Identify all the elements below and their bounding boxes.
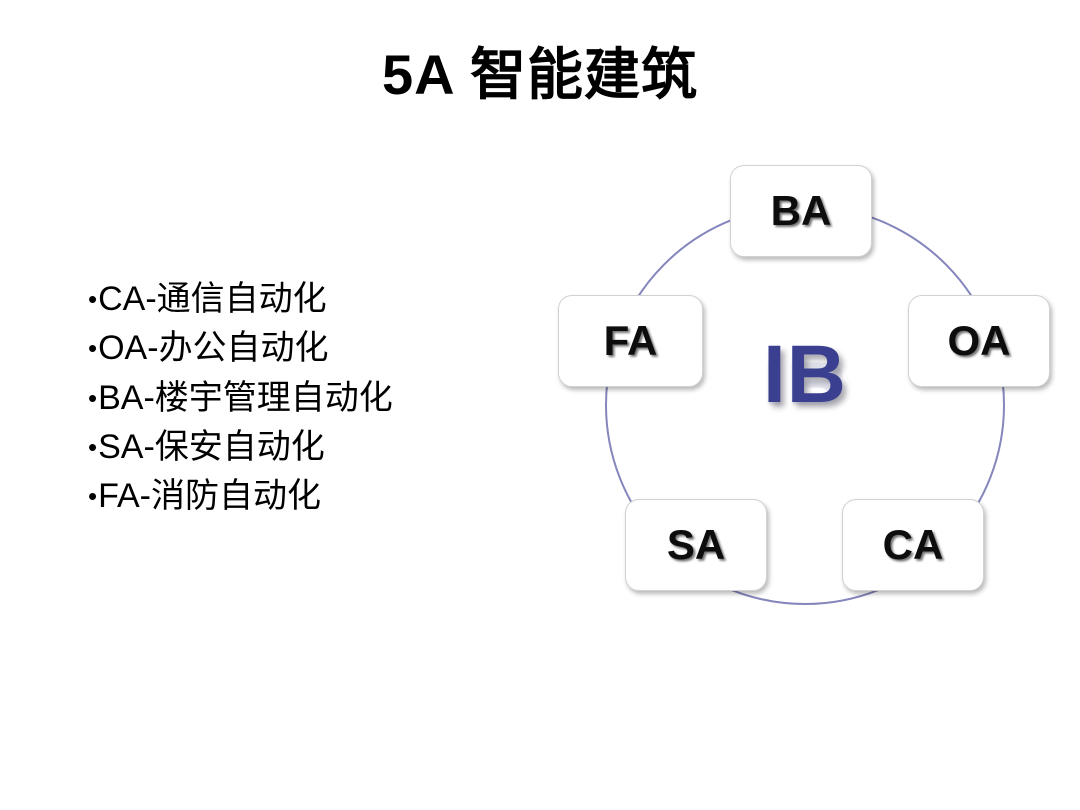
diagram-node-ca[interactable]: CA (842, 499, 984, 591)
bullet-code: FA- (98, 477, 151, 515)
diagram-node-oa[interactable]: OA (908, 295, 1050, 387)
list-item: •BA-楼宇管理自动化 (88, 374, 518, 423)
list-item: •SA-保安自动化 (88, 423, 518, 472)
bullet-code: OA- (98, 329, 158, 367)
page-title: 5A 智能建筑 (0, 44, 1080, 106)
bullet-marker: • (88, 333, 97, 363)
cycle-diagram: IB IB BA OA CA SA FA (540, 140, 1080, 620)
bullet-text: 消防自动化 (151, 478, 321, 515)
bullet-code: CA- (98, 280, 157, 318)
list-item: •OA-办公自动化 (88, 324, 518, 373)
bullet-code: BA- (98, 379, 155, 417)
bullet-marker: • (88, 284, 97, 314)
center-label-ib: IB (715, 315, 895, 435)
diagram-node-ba[interactable]: BA (730, 165, 872, 257)
bullet-marker: • (88, 481, 97, 511)
list-item: •FA-消防自动化 (88, 472, 518, 521)
bullet-marker: • (88, 432, 97, 462)
diagram-node-fa[interactable]: FA (558, 295, 703, 387)
diagram-node-sa[interactable]: SA (625, 499, 767, 591)
bullet-code: SA- (98, 428, 155, 466)
bullet-text: 楼宇管理自动化 (155, 380, 393, 417)
bullet-list: •CA-通信自动化 •OA-办公自动化 •BA-楼宇管理自动化 •SA-保安自动… (88, 275, 518, 521)
bullet-marker: • (88, 383, 97, 413)
bullet-text: 办公自动化 (159, 330, 329, 367)
bullet-text: 保安自动化 (155, 429, 325, 466)
list-item: •CA-通信自动化 (88, 275, 518, 324)
bullet-text: 通信自动化 (157, 281, 327, 318)
